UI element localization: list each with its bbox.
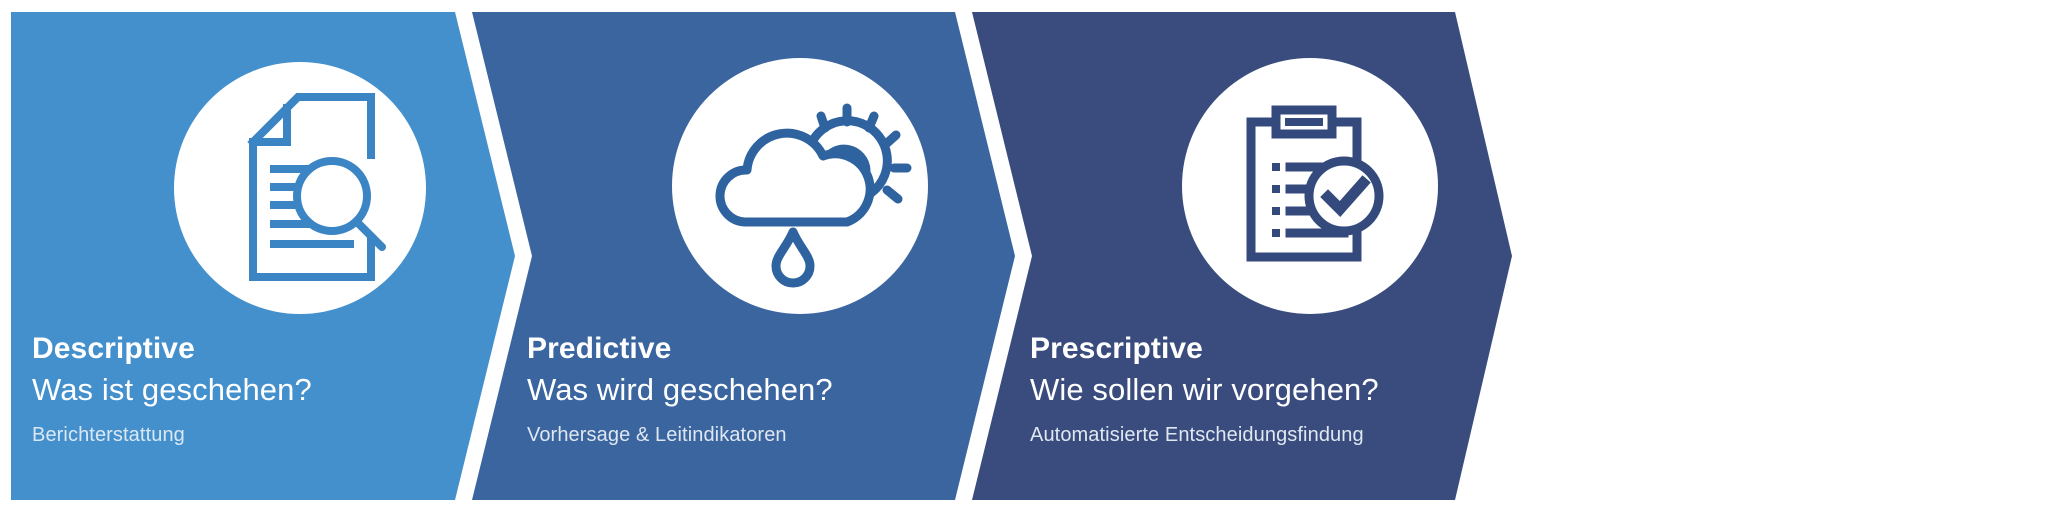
stage-2-title: Predictive xyxy=(527,334,833,364)
stage-1-title: Descriptive xyxy=(32,334,312,364)
stage-2-question: Was wird geschehen? xyxy=(527,374,833,405)
stage-3-question: Wie sollen wir vorgehen? xyxy=(1030,374,1379,405)
clipboard-check-icon xyxy=(1251,110,1379,257)
stage-3-text-block: Prescriptive Wie sollen wir vorgehen? Au… xyxy=(1030,334,1379,445)
stage-1-caption: Berichterstattung xyxy=(32,425,312,445)
stage-2-caption: Vorhersage & Leitindikatoren xyxy=(527,425,833,445)
stage-1-text-block: Descriptive Was ist geschehen? Berichter… xyxy=(32,334,312,445)
stage-2-text-block: Predictive Was wird geschehen? Vorhersag… xyxy=(527,334,833,445)
stage-1-question: Was ist geschehen? xyxy=(32,374,312,405)
stage-3-title: Prescriptive xyxy=(1030,334,1379,364)
stage-3-caption: Automatisierte Entscheidungsfindung xyxy=(1030,425,1379,445)
analytics-maturity-graphic: Descriptive Was ist geschehen? Berichter… xyxy=(0,0,2048,512)
